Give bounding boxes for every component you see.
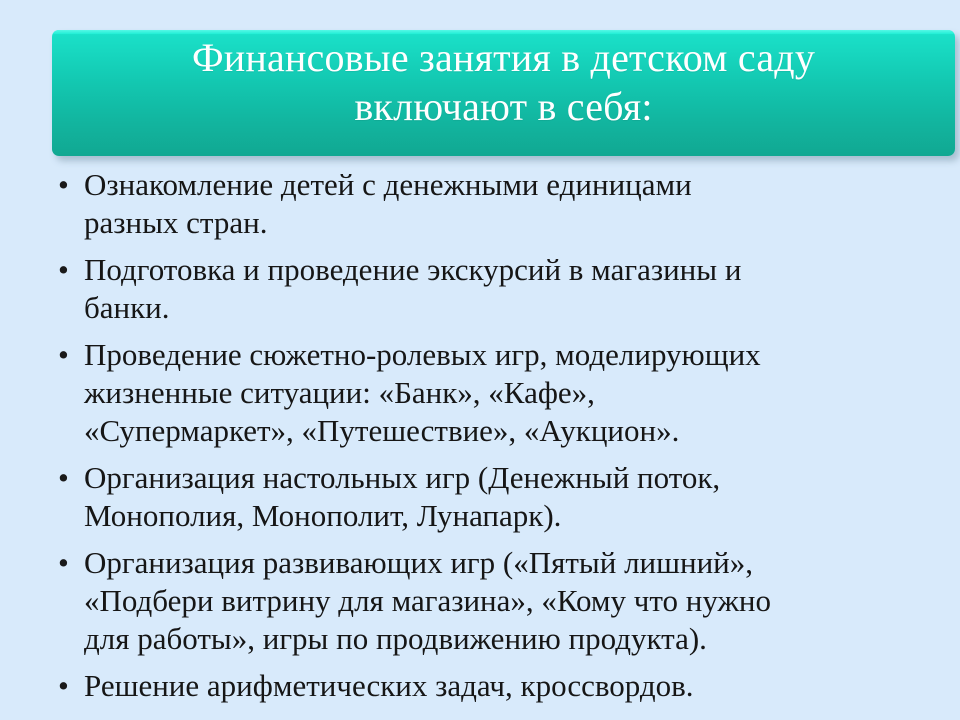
list-item: • Организация развивающих игр («Пятый ли… (52, 544, 932, 658)
slide: Финансовые занятия в детском саду включа… (0, 0, 960, 720)
list-item: • Подготовка и проведение экскурсий в ма… (52, 251, 932, 327)
bullet-point-icon: • (52, 166, 82, 204)
bullet-point-icon: • (52, 251, 82, 289)
list-item-text: Ознакомление детей с денежными единицами… (84, 166, 932, 242)
list-item: • Ознакомление детей с денежными единица… (52, 166, 932, 242)
bullet-point-icon: • (52, 667, 82, 705)
slide-title: Финансовые занятия в детском саду включа… (52, 34, 955, 132)
list-item: • Организация настольных игр (Денежный п… (52, 459, 932, 535)
list-item-text: Организация настольных игр (Денежный пот… (84, 459, 932, 535)
list-item-text: Решение арифметических задач, кроссвордо… (84, 667, 932, 705)
bullet-point-icon: • (52, 336, 82, 374)
bullet-point-icon: • (52, 459, 82, 497)
list-item-text: Подготовка и проведение экскурсий в мага… (84, 251, 932, 327)
list-item-text: Организация развивающих игр («Пятый лишн… (84, 544, 932, 658)
list-item: • Проведение сюжетно-ролевых игр, модели… (52, 336, 932, 450)
list-item-text: Проведение сюжетно-ролевых игр, моделиру… (84, 336, 932, 450)
title-box: Финансовые занятия в детском саду включа… (52, 30, 955, 156)
bullet-list: • Ознакомление детей с денежными единица… (52, 166, 932, 714)
list-item: • Решение арифметических задач, кроссвор… (52, 667, 932, 705)
bullet-point-icon: • (52, 544, 82, 582)
